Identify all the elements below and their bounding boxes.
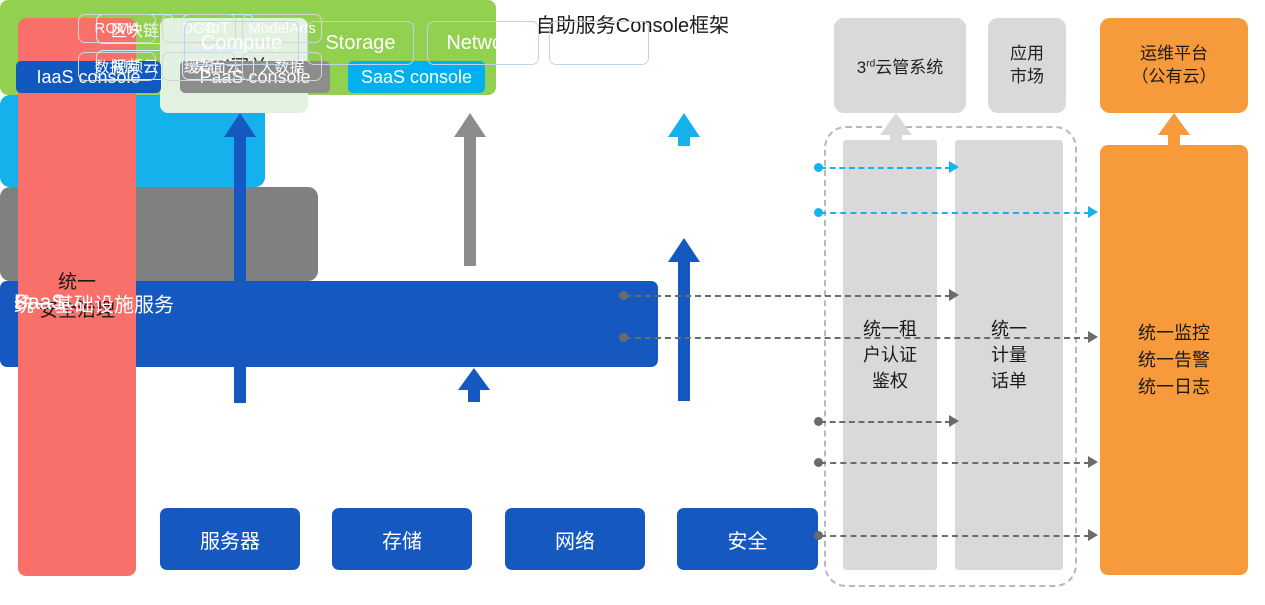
- architecture-diagram: 统一安全治理 API网关 自助服务Console框架 IaaS console …: [0, 0, 1265, 605]
- arrow-saas-to-console: [666, 113, 702, 146]
- connector-saas-to-auth: [820, 167, 951, 169]
- arrowhead-paas-to-ops: [1088, 331, 1098, 343]
- arrowhead-saas-to-auth: [949, 161, 959, 173]
- arrowhead-saas-to-ops: [1088, 206, 1098, 218]
- arrowhead-infra-to-ops: [1088, 456, 1098, 468]
- arrow-paas-to-console: [452, 113, 488, 266]
- resource-box-storage: 存储: [332, 508, 472, 570]
- resource-box-network: 网络: [505, 508, 645, 570]
- ops-monitoring-label: 统一监控统一告警统一日志: [1138, 320, 1210, 401]
- infra-chip-compute: Compute: [184, 21, 299, 65]
- ops-monitoring-pillar: 统一监控统一告警统一日志: [1100, 145, 1248, 575]
- infra-chip-cce: CCE: [549, 21, 649, 65]
- arrow-shared-to-third-party-cloud: [878, 113, 914, 143]
- arrow-infra-to-api-gateway: [222, 113, 258, 403]
- unified-infrastructure-label: 统一基础设施服务: [14, 288, 174, 317]
- app-market-label: 应用市场: [1010, 43, 1044, 89]
- arrowhead-paas-to-auth: [949, 289, 959, 301]
- app-market-box: 应用市场: [988, 18, 1066, 113]
- third-party-cloud-mgmt-label: 3rd云管系统: [857, 53, 944, 78]
- connector-infra-to-ops: [820, 462, 1090, 464]
- arrow-ops-pillar-to-ops-public: [1156, 113, 1192, 146]
- shared-column-tenant-auth: 统一租户认证鉴权: [843, 140, 937, 570]
- connector-paas-to-ops: [625, 337, 1090, 339]
- ops-platform-public-cloud-box: 运维平台（公有云）: [1100, 18, 1248, 113]
- connector-saas-to-ops: [820, 212, 1090, 214]
- paas-chip-database: 数据库: [78, 52, 156, 81]
- resource-box-server: 服务器: [160, 508, 300, 570]
- arrow-infra-to-paas: [456, 368, 492, 402]
- connector-paas-to-auth: [625, 295, 951, 297]
- arrow-infra-to-saas: [666, 238, 702, 401]
- arrowhead-resources-to-ops: [1088, 529, 1098, 541]
- connector-infra-to-auth: [820, 421, 951, 423]
- paas-chip-roma: ROMA: [78, 14, 156, 43]
- infra-chip-network: Network: [427, 21, 539, 65]
- third-party-cloud-mgmt-box: 3rd云管系统: [834, 18, 966, 113]
- ops-platform-public-cloud-label: 运维平台（公有云）: [1132, 43, 1217, 89]
- infra-chip-storage: Storage: [307, 21, 414, 65]
- arrowhead-infra-to-auth: [949, 415, 959, 427]
- resource-box-security: 安全: [677, 508, 818, 570]
- connector-resources-to-ops: [820, 535, 1090, 537]
- saas-console-chip: SaaS console: [348, 61, 485, 93]
- shared-column-metering-billing: 统一计量话单: [955, 140, 1063, 570]
- saas-console-label: SaaS console: [361, 67, 472, 88]
